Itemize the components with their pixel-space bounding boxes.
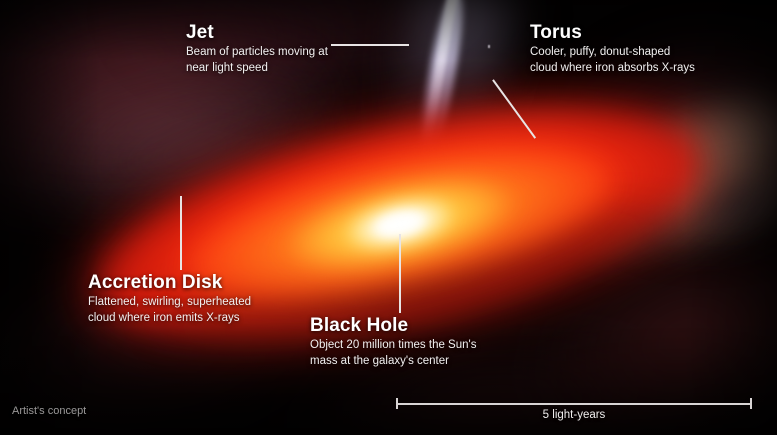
label-jet-desc-line2: near light speed xyxy=(186,60,328,76)
scale-bar-line xyxy=(396,403,752,405)
leader-line-jet xyxy=(331,44,409,46)
leader-line-black-hole xyxy=(399,234,401,313)
label-black-hole-desc-line2: mass at the galaxy's center xyxy=(310,353,476,369)
label-torus: Torus Cooler, puffy, donut-shaped cloud … xyxy=(530,22,695,76)
leader-line-accretion-disk xyxy=(180,196,182,270)
label-accretion-disk-desc-line2: cloud where iron emits X-rays xyxy=(88,310,251,326)
label-torus-desc-line1: Cooler, puffy, donut-shaped xyxy=(530,44,695,60)
artist-credit: Artist's concept xyxy=(12,405,86,417)
label-accretion-disk-title: Accretion Disk xyxy=(88,272,251,294)
star-speck xyxy=(488,45,490,48)
scale-bar: 5 light-years xyxy=(396,396,752,422)
label-torus-title: Torus xyxy=(530,22,695,44)
scale-bar-tick-left xyxy=(396,398,398,409)
scale-bar-tick-right xyxy=(750,398,752,409)
label-black-hole-title: Black Hole xyxy=(310,315,476,337)
scale-bar-caption: 5 light-years xyxy=(396,409,752,421)
label-jet: Jet Beam of particles moving at near lig… xyxy=(186,22,328,76)
black-hole-illustration: Jet Beam of particles moving at near lig… xyxy=(0,0,777,435)
label-jet-desc-line1: Beam of particles moving at xyxy=(186,44,328,60)
label-black-hole-desc-line1: Object 20 million times the Sun's xyxy=(310,337,476,353)
label-jet-title: Jet xyxy=(186,22,328,44)
label-torus-desc-line2: cloud where iron absorbs X-rays xyxy=(530,60,695,76)
label-accretion-disk: Accretion Disk Flattened, swirling, supe… xyxy=(88,272,251,326)
label-black-hole: Black Hole Object 20 million times the S… xyxy=(310,315,476,369)
label-accretion-disk-desc-line1: Flattened, swirling, superheated xyxy=(88,294,251,310)
